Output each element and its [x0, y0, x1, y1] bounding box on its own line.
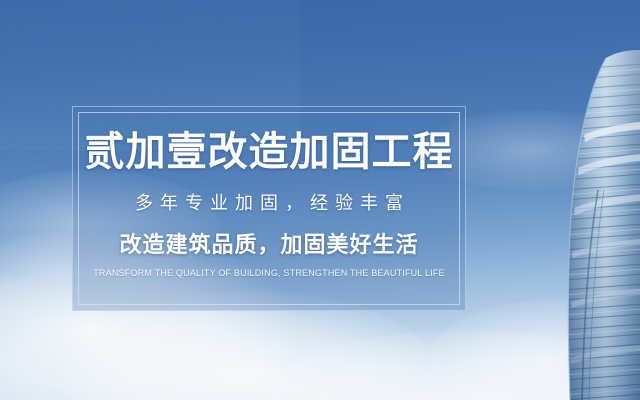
english-tagline: TRANSFORM THE QUALITY OF BUILDING, STREN…	[93, 268, 445, 278]
slogan-text: 改造建筑品质，加固美好生活	[119, 227, 418, 259]
hero-banner: 贰加壹改造加固工程 多年专业加固，经验丰富 改造建筑品质，加固美好生活 TRAN…	[0, 0, 640, 400]
photo-grain-overlay	[0, 0, 300, 150]
subtitle-text: 多年专业加固，经验丰富	[128, 189, 410, 215]
skyscraper-illustration	[540, 40, 640, 400]
